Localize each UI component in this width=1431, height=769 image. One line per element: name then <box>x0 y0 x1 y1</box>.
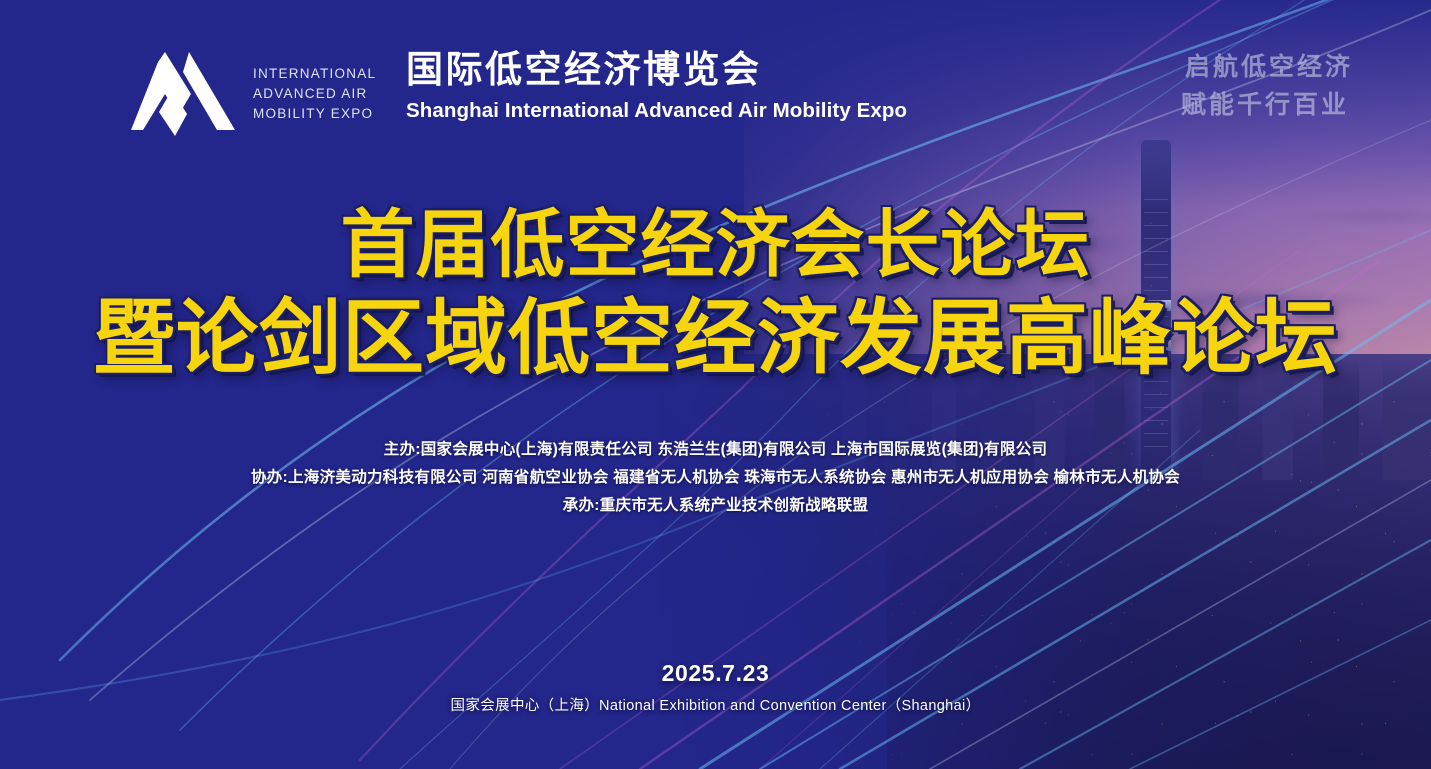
expo-brand: INTERNATIONAL ADVANCED AIR MOBILITY EXPO <box>131 50 376 138</box>
forum-title-line-1: 首届低空经济会长论坛 <box>0 204 1431 287</box>
event-poster: INTERNATIONAL ADVANCED AIR MOBILITY EXPO… <box>0 0 1431 769</box>
event-footer: 2025.7.23 国家会展中心（上海）National Exhibition … <box>0 660 1431 715</box>
expo-title-english: Shanghai International Advanced Air Mobi… <box>406 97 907 125</box>
slogan-line-1: 启航低空经济 <box>1181 48 1353 86</box>
expo-title-chinese: 国际低空经济博览会 <box>406 48 907 92</box>
event-venue: 国家会展中心（上海）National Exhibition and Conven… <box>0 694 1431 715</box>
chevron-m-logo-icon <box>131 50 235 138</box>
brand-word-line-2: ADVANCED AIR <box>253 84 376 104</box>
expo-title-block: 国际低空经济博览会 Shanghai International Advance… <box>406 48 907 125</box>
brand-word-line-1: INTERNATIONAL <box>253 64 376 84</box>
brand-word-line-3: MOBILITY EXPO <box>253 104 376 124</box>
poster-header: INTERNATIONAL ADVANCED AIR MOBILITY EXPO… <box>0 0 1431 168</box>
expo-brand-words: INTERNATIONAL ADVANCED AIR MOBILITY EXPO <box>253 64 376 124</box>
event-date: 2025.7.23 <box>0 660 1431 687</box>
forum-title-block: 首届低空经济会长论坛 暨论剑区域低空经济发展高峰论坛 <box>0 204 1431 385</box>
forum-title-line-2: 暨论剑区域低空经济发展高峰论坛 <box>0 293 1431 385</box>
executive-organizer: 承办:重庆市无人系统产业技术创新战略联盟 <box>0 492 1431 520</box>
co-host-organizations: 协办:上海济美动力科技有限公司 河南省航空业协会 福建省无人机协会 珠海市无人系… <box>0 464 1431 492</box>
slogan-line-2: 赋能千行百业 <box>1181 86 1353 124</box>
expo-slogan: 启航低空经济 赋能千行百业 <box>1181 48 1353 124</box>
host-organizations: 主办:国家会展中心(上海)有限责任公司 东浩兰生(集团)有限公司 上海市国际展览… <box>0 436 1431 464</box>
organizer-block: 主办:国家会展中心(上海)有限责任公司 东浩兰生(集团)有限公司 上海市国际展览… <box>0 436 1431 520</box>
